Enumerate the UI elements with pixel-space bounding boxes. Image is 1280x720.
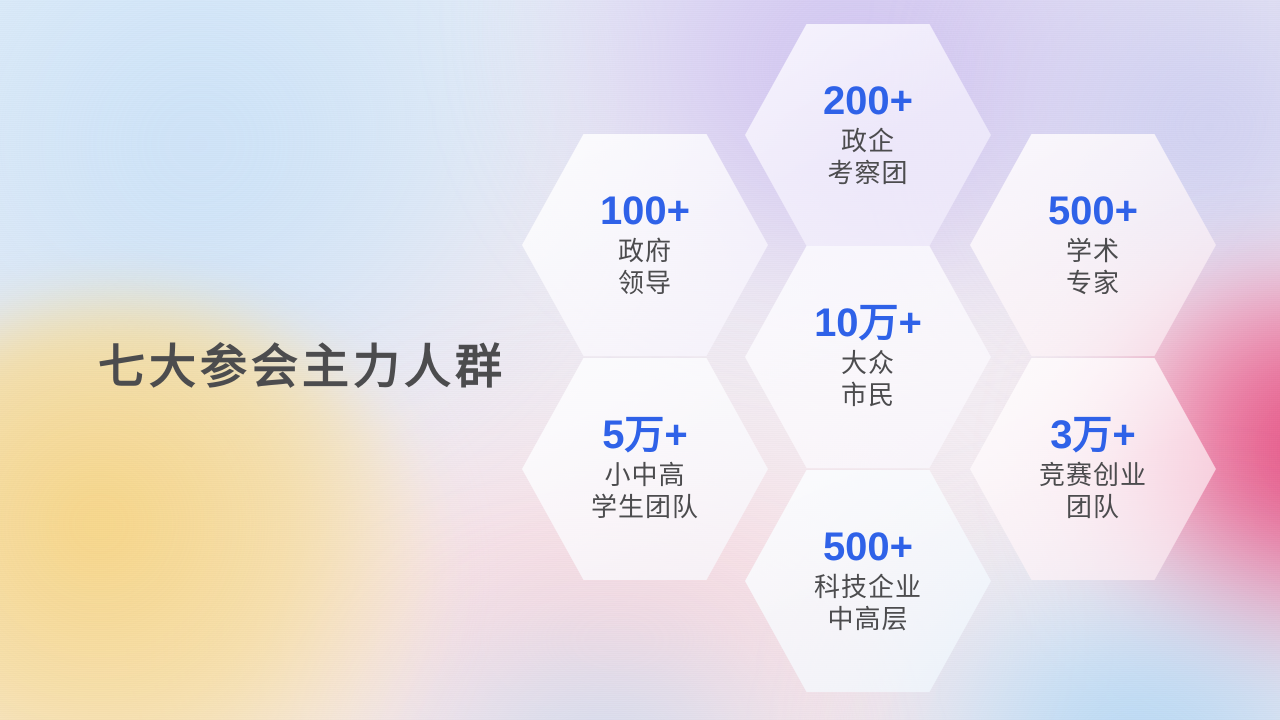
hexagon-government[interactable]: 100+ 政府 领导 [522, 134, 768, 356]
hexagon-students-label: 小中高 学生团队 [591, 460, 699, 523]
hexagon-startups-label: 竞赛创业 团队 [1039, 460, 1147, 523]
hexagon-scholars-label: 学术 专家 [1066, 236, 1120, 299]
hexagon-tech[interactable]: 500+ 科技企业 中高层 [745, 470, 991, 692]
hexagon-cluster: 100+ 政府 领导 200+ 政企 考察团 500+ 学术 专家 10万+ 大… [0, 0, 1280, 720]
hexagon-enterprise-label: 政企 考察团 [827, 126, 908, 189]
hexagon-tech-value: 500+ [823, 526, 913, 568]
hexagon-government-label: 政府 领导 [618, 236, 672, 299]
hexagon-students[interactable]: 5万+ 小中高 学生团队 [522, 358, 768, 580]
hexagon-scholars[interactable]: 500+ 学术 专家 [970, 134, 1216, 356]
hexagon-startups[interactable]: 3万+ 竞赛创业 团队 [970, 358, 1216, 580]
hexagon-scholars-value: 500+ [1048, 190, 1138, 232]
hexagon-government-value: 100+ [600, 190, 690, 232]
hexagon-tech-label: 科技企业 中高层 [814, 572, 922, 635]
hexagon-enterprise[interactable]: 200+ 政企 考察团 [745, 24, 991, 246]
hexagon-students-value: 5万+ [602, 414, 688, 456]
hexagon-public[interactable]: 10万+ 大众 市民 [745, 246, 991, 468]
hexagon-public-label: 大众 市民 [841, 348, 895, 411]
hexagon-public-value: 10万+ [814, 302, 922, 344]
hexagon-startups-value: 3万+ [1050, 414, 1136, 456]
hexagon-enterprise-value: 200+ [823, 80, 913, 122]
slide-canvas: 七大参会主力人群 100+ 政府 领导 200+ 政企 考察团 500+ 学术 … [0, 0, 1280, 720]
